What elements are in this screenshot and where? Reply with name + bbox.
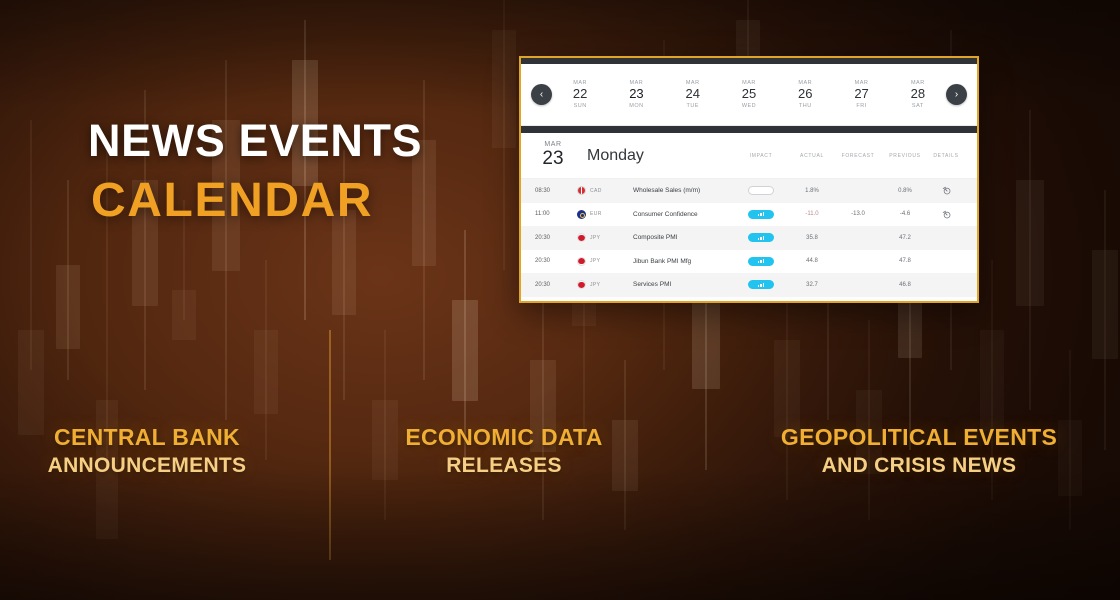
selected-weekday-label: Monday	[587, 147, 644, 165]
date-item-24[interactable]: MAR24TUE	[685, 80, 699, 110]
title-line-secondary: CALENDAR	[91, 177, 422, 225]
caption-top-line: GEOPOLITICAL EVENTS	[754, 424, 1084, 450]
date-item-weekday: SUN	[573, 103, 587, 109]
event-previous-value: 47.8	[881, 258, 929, 264]
event-time: 20:30	[535, 282, 577, 288]
date-navigation-strip[interactable]: ‹ MAR22SUNMAR23MONMAR24TUEMAR25WEDMAR26T…	[521, 64, 977, 126]
event-row[interactable]: 08:30CADWholesale Sales (m/m)1.8%0.8%	[521, 179, 977, 203]
impact-bars-icon	[758, 259, 765, 263]
event-country: JPY	[577, 280, 633, 289]
candlestick-shape	[492, 0, 516, 270]
caption-bottom-line: ANNOUNCEMENTS	[0, 453, 312, 478]
economic-calendar-card: ‹ MAR22SUNMAR23MONMAR24TUEMAR25WEDMAR26T…	[519, 56, 979, 303]
event-name[interactable]: Composite PMI	[633, 234, 733, 241]
date-item-weekday: FRI	[854, 103, 868, 109]
currency-code: JPY	[590, 258, 600, 264]
details-gauge-icon[interactable]	[942, 210, 951, 219]
candlestick-body	[492, 30, 516, 148]
candlestick-body	[254, 330, 278, 414]
candlestick-shape	[530, 300, 556, 520]
impact-badge-high	[748, 280, 774, 289]
date-item-number: 25	[742, 87, 756, 102]
candlestick-body	[1016, 180, 1044, 306]
date-item-22[interactable]: MAR22SUN	[573, 80, 587, 110]
caption-bottom-line: AND CRISIS NEWS	[754, 453, 1084, 478]
impact-badge-high	[748, 233, 774, 242]
event-actual-value: 32.7	[789, 282, 835, 288]
currency-code: EUR	[590, 211, 602, 217]
date-item-25[interactable]: MAR25WED	[742, 80, 756, 110]
selected-date: MAR 23	[535, 141, 571, 170]
caption-economic-data: ECONOMIC DATA RELEASES	[354, 424, 654, 479]
event-actual-value: 44.8	[789, 258, 835, 264]
candlestick-body	[18, 330, 44, 435]
impact-cell	[733, 280, 789, 289]
details-cell	[929, 186, 963, 195]
date-item-weekday: THU	[798, 103, 812, 109]
caption-top-line: ECONOMIC DATA	[354, 424, 654, 450]
date-item-27[interactable]: MAR27FRI	[854, 80, 868, 110]
details-gauge-icon[interactable]	[942, 186, 951, 195]
impact-cell	[733, 257, 789, 266]
event-previous-value: 47.2	[881, 235, 929, 241]
previous-week-arrow-icon[interactable]: ‹	[531, 84, 552, 105]
event-country: EUR	[577, 210, 633, 219]
event-name[interactable]: Wholesale Sales (m/m)	[633, 187, 733, 194]
column-header-details: DETAILS	[929, 153, 963, 159]
event-previous-value: 46.8	[881, 282, 929, 288]
candlestick-body	[774, 340, 800, 437]
impact-cell	[733, 186, 789, 195]
date-list: MAR22SUNMAR23MONMAR24TUEMAR25WEDMAR26THU…	[552, 80, 946, 110]
event-country: JPY	[577, 257, 633, 266]
event-name[interactable]: Consumer Confidence	[633, 211, 733, 218]
event-row[interactable]: 20:30JPYJibun Bank PMI Mfg44.847.8	[521, 250, 977, 274]
candlestick-body	[172, 290, 196, 340]
next-week-arrow-icon[interactable]: ›	[946, 84, 967, 105]
caption-bottom-line: RELEASES	[354, 453, 654, 478]
date-item-number: 23	[629, 87, 643, 102]
event-country: JPY	[577, 233, 633, 242]
event-row[interactable]: 11:00EURConsumer Confidence-11.0-13.0-4.…	[521, 203, 977, 227]
impact-badge-low	[748, 186, 774, 195]
event-actual-value: 35.8	[789, 235, 835, 241]
flag-icon-jp	[577, 233, 586, 242]
impact-bars-icon	[758, 283, 765, 287]
candlestick-shape	[18, 120, 44, 370]
date-item-number: 28	[911, 87, 925, 102]
event-actual-value: -11.0	[789, 211, 835, 217]
column-header-impact: IMPACT	[733, 153, 789, 159]
details-cell	[929, 210, 963, 219]
date-item-28[interactable]: MAR28SAT	[911, 80, 925, 110]
event-name[interactable]: Jibun Bank PMI Mfg	[633, 258, 733, 265]
candlestick-body	[452, 300, 478, 401]
event-time: 20:30	[535, 258, 577, 264]
title-line-primary: NEWS EVENTS	[88, 118, 422, 163]
section-divider	[521, 126, 977, 133]
date-item-number: 27	[854, 87, 868, 102]
event-previous-value: 0.8%	[881, 188, 929, 194]
impact-badge-high	[748, 210, 774, 219]
candlestick-shape	[1092, 190, 1118, 450]
candlestick-shape	[856, 320, 882, 520]
column-header-forecast: FORECAST	[835, 153, 881, 159]
candlestick-shape	[1016, 110, 1044, 410]
column-header-actual: ACTUAL	[789, 153, 835, 159]
candlestick-body	[980, 330, 1004, 431]
event-row[interactable]: 20:30JPYComposite PMI35.847.2	[521, 226, 977, 250]
selected-date-day: 23	[535, 149, 571, 170]
event-list: 08:30CADWholesale Sales (m/m)1.8%0.8%11:…	[521, 179, 977, 297]
flag-icon-ca	[577, 186, 586, 195]
flag-icon-jp	[577, 280, 586, 289]
caption-geopolitical-events: GEOPOLITICAL EVENTS AND CRISIS NEWS	[754, 424, 1084, 479]
event-row[interactable]: 20:30JPYServices PMI32.746.8	[521, 273, 977, 297]
currency-code: CAD	[590, 188, 602, 194]
candlestick-shape	[212, 60, 240, 420]
event-time: 20:30	[535, 235, 577, 241]
date-item-number: 22	[573, 87, 587, 102]
candlestick-body	[56, 265, 80, 349]
column-header-previous: PREVIOUS	[881, 153, 929, 159]
candlestick-shape	[56, 180, 80, 380]
date-item-number: 26	[798, 87, 812, 102]
day-header: MAR 23 Monday IMPACT ACTUAL FORECAST PRE…	[521, 133, 977, 179]
date-item-weekday: SAT	[911, 103, 925, 109]
impact-bars-icon	[758, 236, 765, 240]
caption-central-bank: CENTRAL BANK ANNOUNCEMENTS	[0, 424, 312, 479]
page-title: NEWS EVENTS CALENDAR	[88, 118, 422, 225]
date-item-23[interactable]: MAR23MON	[629, 80, 643, 110]
date-item-weekday: TUE	[685, 103, 699, 109]
impact-cell	[733, 210, 789, 219]
date-item-number: 24	[685, 87, 699, 102]
caption-top-line: CENTRAL BANK	[0, 424, 312, 450]
currency-code: JPY	[590, 282, 600, 288]
event-time: 08:30	[535, 188, 577, 194]
impact-badge-high	[748, 257, 774, 266]
date-item-26[interactable]: MAR26THU	[798, 80, 812, 110]
event-time: 11:00	[535, 211, 577, 217]
flag-icon-jp	[577, 257, 586, 266]
event-previous-value: -4.6	[881, 211, 929, 217]
impact-bars-icon	[758, 212, 765, 216]
column-header-group: IMPACT ACTUAL FORECAST PREVIOUS DETAILS	[733, 153, 963, 159]
event-actual-value: 1.8%	[789, 188, 835, 194]
event-forecast-value: -13.0	[835, 211, 881, 217]
event-country: CAD	[577, 186, 633, 195]
date-item-weekday: WED	[742, 103, 756, 109]
currency-code: JPY	[590, 235, 600, 241]
event-name[interactable]: Services PMI	[633, 281, 733, 288]
flag-icon-eu	[577, 210, 586, 219]
candlestick-body	[1092, 250, 1118, 359]
feature-caption-row: CENTRAL BANK ANNOUNCEMENTS ECONOMIC DATA…	[0, 424, 1120, 479]
impact-cell	[733, 233, 789, 242]
date-item-weekday: MON	[629, 103, 643, 109]
poster-canvas: NEWS EVENTS CALENDAR CENTRAL BANK ANNOUN…	[0, 0, 1120, 600]
